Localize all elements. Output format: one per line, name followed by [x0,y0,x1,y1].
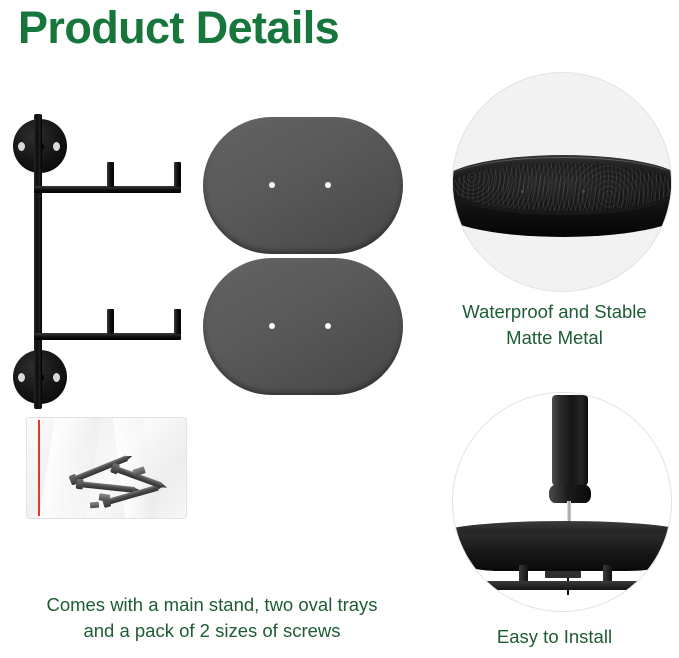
bracket-prong [107,309,114,334]
bracket-prong [107,162,114,187]
right-column: Waterproof and Stable Matte Metal Easy t… [430,0,679,658]
tray-screw-hole [269,323,275,329]
bracket-arm-upper [34,186,181,193]
screw-bag [26,417,187,519]
bracket-arm-lower [34,333,181,340]
page-title: Product Details [18,2,339,54]
mount-screw-hole-left [18,373,25,382]
left-caption-line-2: and a pack of 2 sizes of screws [0,618,424,644]
left-column: Comes with a main stand, two oval trays … [0,62,430,658]
screw-in-hole [567,563,569,595]
tray-rim-highlight [452,157,672,211]
screwdriver-handle [552,395,588,487]
bracket-vertical-post [34,114,42,409]
mount-screw-hole-left [18,142,25,151]
mount-screw-hole-right [53,142,60,151]
left-caption-line-1: Comes with a main stand, two oval trays [0,592,424,618]
oval-tray-upper [203,117,403,254]
caption-line-1: Waterproof and Stable [430,299,679,325]
bag-seal-stripe [38,420,40,516]
main-stand-bracket-illustration [5,114,195,409]
caption-line-2: Matte Metal [430,325,679,351]
photo-matte-tray [452,72,672,292]
installed-tray [452,521,672,573]
oval-tray-lower [203,258,403,395]
bracket-cross-piece [545,571,581,578]
mount-screw-hole-right [53,373,60,382]
photo-installation [452,392,672,612]
left-caption: Comes with a main stand, two oval trays … [0,592,424,645]
tray-side-wall [452,533,672,571]
tray-screw-hole [325,182,331,188]
wall-anchor [99,493,111,501]
caption-waterproof-matte-metal: Waterproof and Stable Matte Metal [430,299,679,352]
caption-easy-to-install: Easy to Install [430,624,679,650]
tray-screw-hole [325,323,331,329]
wall-anchor [90,502,99,509]
matte-tray-perspective [452,155,672,239]
bracket-arm [475,581,671,590]
bracket-prong [174,309,181,334]
bracket-prong [174,162,181,187]
tray-screw-hole [269,182,275,188]
installation-scene [453,393,671,611]
